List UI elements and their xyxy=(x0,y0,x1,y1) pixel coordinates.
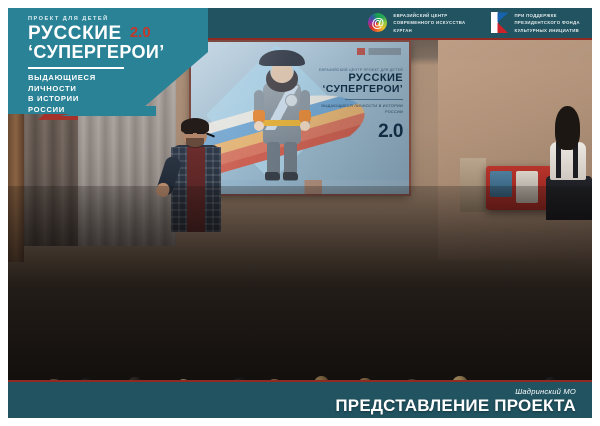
project-title-line2: ‘СУПЕРГЕРОИ’ xyxy=(28,43,206,62)
assistant-hair xyxy=(555,106,580,150)
project-title-row: РУССКИЕ 2.0 xyxy=(28,24,206,43)
project-title-line1: РУССКИЕ xyxy=(28,24,122,43)
logo-presidential-fund: ПРИ ПОДДЕРЖКЕ ПРЕЗИДЕНТСКОГО ФОНДА КУЛЬТ… xyxy=(491,12,580,33)
at-circle-logo-icon xyxy=(368,13,387,32)
title-divider xyxy=(28,67,124,69)
project-subtitle: ВЫДАЮЩИЕСЯ ЛИЧНОСТИ В ИСТОРИИ РОССИИ xyxy=(28,73,206,116)
logo-presidential-fund-text: ПРИ ПОДДЕРЖКЕ ПРЕЗИДЕНТСКОГО ФОНДА КУЛЬТ… xyxy=(514,12,580,33)
footer-title: ПРЕДСТАВЛЕНИЕ ПРОЕКТА xyxy=(335,397,576,414)
event-photograph: ЕВРАЗИЙСКИЙ ЦЕНТР ПРОЕКТ ДЛЯ ДЕТЕЙ РУССК… xyxy=(8,8,592,418)
project-eyebrow: ПРОЕКТ ДЛЯ ДЕТЕЙ xyxy=(28,16,206,22)
presenter-beard xyxy=(186,138,204,148)
title-panel-text: ПРОЕКТ ДЛЯ ДЕТЕЙ РУССКИЕ 2.0 ‘СУПЕРГЕРОИ… xyxy=(28,16,206,116)
poster-frame: ЕВРАЗИЙСКИЙ ЦЕНТР ПРОЕКТ ДЛЯ ДЕТЕЙ РУССК… xyxy=(0,0,600,426)
k-tricolor-logo-icon xyxy=(491,12,508,33)
footer-location: Шадринский МО xyxy=(515,387,576,396)
presenter-headset-mic xyxy=(206,132,215,137)
logo-eurasian-center: ЕВРАЗИЙСКИЙ ЦЕНТР СОВРЕМЕННОГО ИСКУССТВА… xyxy=(368,12,465,33)
presenter-hair xyxy=(181,118,209,133)
project-version: 2.0 xyxy=(130,24,151,41)
logo-eurasian-center-text: ЕВРАЗИЙСКИЙ ЦЕНТР СОВРЕМЕННОГО ИСКУССТВА… xyxy=(393,12,465,33)
footer-bar: Шадринский МО ПРЕДСТАВЛЕНИЕ ПРОЕКТА xyxy=(8,382,592,418)
